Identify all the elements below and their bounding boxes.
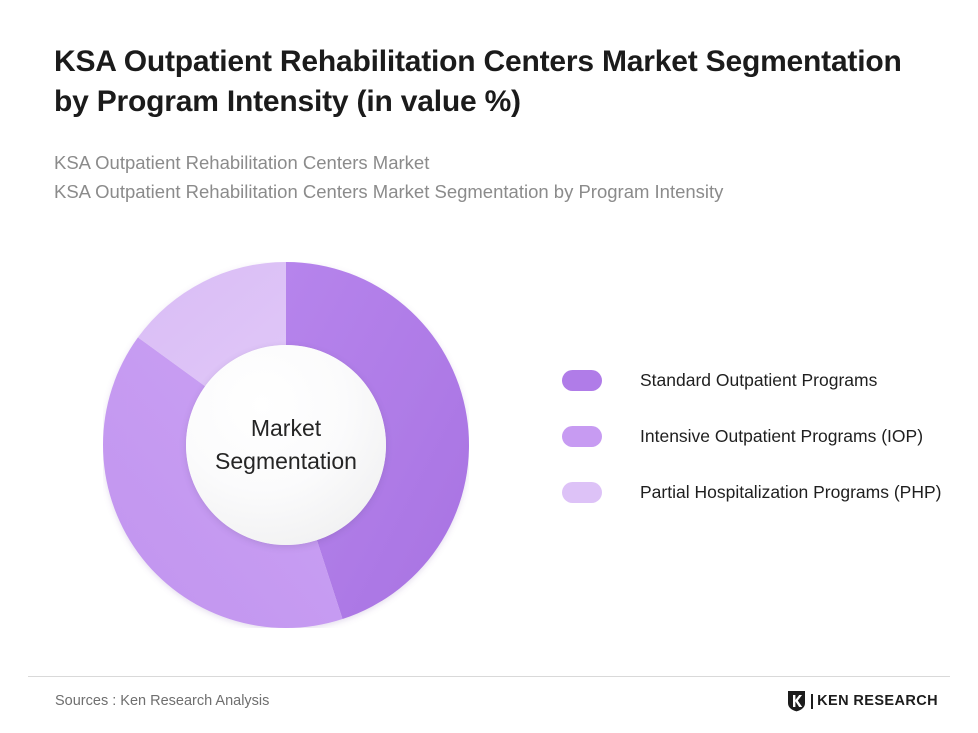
legend-item[interactable]: Standard Outpatient Programs bbox=[562, 368, 962, 394]
page-title: KSA Outpatient Rehabilitation Centers Ma… bbox=[54, 42, 972, 122]
subtitle-line-1: KSA Outpatient Rehabilitation Centers Ma… bbox=[54, 148, 972, 177]
chart-legend: Standard Outpatient ProgramsIntensive Ou… bbox=[562, 368, 962, 536]
subtitle-line-2: KSA Outpatient Rehabilitation Centers Ma… bbox=[54, 177, 972, 206]
chart-area: Market Segmentation Standard Outpatient … bbox=[0, 240, 978, 660]
page-title-line-2: by Program Intensity (in value %) bbox=[54, 82, 972, 122]
legend-item-label: Partial Hospitalization Programs (PHP) bbox=[640, 480, 942, 506]
legend-swatch-icon bbox=[562, 370, 602, 391]
donut-chart: Market Segmentation bbox=[103, 262, 469, 628]
chart-header: KSA Outpatient Rehabilitation Centers Ma… bbox=[54, 42, 972, 206]
legend-swatch-icon bbox=[562, 426, 602, 447]
shield-k-logo-icon bbox=[787, 690, 806, 712]
footer-divider bbox=[28, 676, 950, 677]
legend-swatch-icon bbox=[562, 482, 602, 503]
legend-item-label: Intensive Outpatient Programs (IOP) bbox=[640, 424, 923, 450]
legend-item-label: Standard Outpatient Programs bbox=[640, 368, 877, 394]
source-note: Sources : Ken Research Analysis bbox=[55, 693, 269, 709]
legend-item[interactable]: Intensive Outpatient Programs (IOP) bbox=[562, 424, 962, 450]
subtitle-group: KSA Outpatient Rehabilitation Centers Ma… bbox=[54, 148, 972, 206]
brand-logo: KEN RESEARCH bbox=[787, 690, 938, 712]
donut-center-line-2: Segmentation bbox=[215, 445, 357, 478]
legend-item[interactable]: Partial Hospitalization Programs (PHP) bbox=[562, 480, 962, 506]
chart-page: KSA Outpatient Rehabilitation Centers Ma… bbox=[0, 0, 978, 733]
brand-divider bbox=[811, 694, 813, 709]
donut-center-line-1: Market bbox=[251, 412, 321, 445]
donut-center-label: Market Segmentation bbox=[186, 345, 386, 545]
page-title-line-1: KSA Outpatient Rehabilitation Centers Ma… bbox=[54, 45, 902, 78]
brand-name: KEN RESEARCH bbox=[817, 693, 938, 709]
